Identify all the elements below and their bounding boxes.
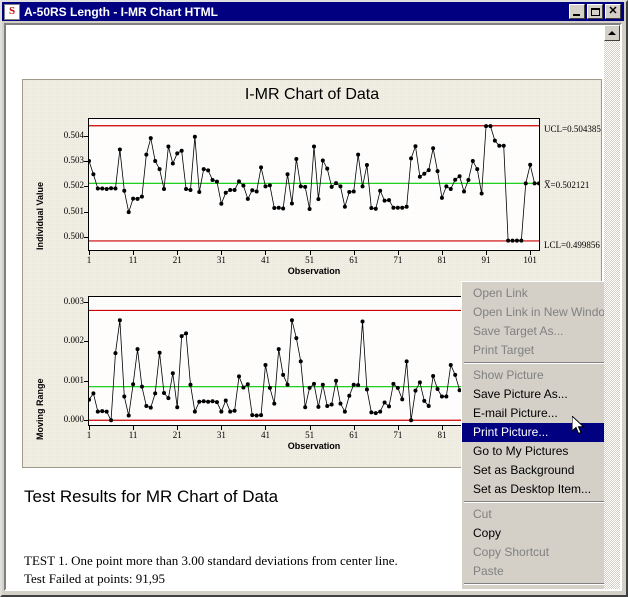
i-chart-data-point [109, 186, 113, 190]
mr-chart-data-point [175, 405, 179, 409]
i-chart-data-point [533, 181, 537, 185]
i-chart-data-point [286, 172, 290, 176]
menu-item-paste: Paste [462, 562, 604, 581]
mr-chart-data-point [171, 371, 175, 375]
menu-separator [464, 501, 604, 503]
mr-chart-data-point [91, 391, 95, 395]
mr-chart-data-point [89, 398, 91, 402]
menu-separator [464, 583, 604, 585]
mr-chart-data-point [96, 410, 100, 414]
i-chart-data-point [378, 189, 382, 193]
i-chart-data-point [206, 168, 210, 172]
mr-chart-data-point [294, 336, 298, 340]
i-chart-data-point [471, 159, 475, 163]
mr-chart-data-point [374, 411, 378, 415]
i-chart-data-point [365, 163, 369, 167]
mr-chart-x-tick-label: 21 [162, 430, 192, 440]
i-chart-x-tick-label: 51 [295, 255, 325, 265]
scrollbar-track[interactable] [604, 41, 620, 589]
mr-chart-data-point [352, 383, 356, 387]
browser-client-area: I-MR Chart of Data Individual Value 0.50… [4, 23, 622, 591]
mr-chart-data-point [338, 402, 342, 406]
mr-chart-x-tick-mark [310, 426, 311, 430]
i-chart-data-point [241, 184, 245, 188]
i-chart-data-point [462, 190, 466, 194]
i-chart-data-point [449, 187, 453, 191]
mr-chart-data-point [400, 397, 404, 401]
mr-chart-data-point [387, 404, 391, 408]
i-chart-data-point [237, 179, 241, 183]
mr-chart-data-point [418, 380, 422, 384]
i-chart-data-point [259, 165, 263, 169]
i-chart-data-point [422, 172, 426, 176]
i-chart-data-point [149, 136, 153, 140]
mr-chart-x-tick-mark [442, 426, 443, 430]
mr-chart-data-point [180, 334, 184, 338]
mr-chart-data-point [122, 395, 126, 399]
i-chart-data-point [444, 184, 448, 188]
mr-chart-data-point [290, 318, 294, 322]
i-chart-data-point [184, 187, 188, 191]
i-chart-data-point [475, 167, 479, 171]
i-chart-data-point [100, 186, 104, 190]
menu-item-add-to-favorites[interactable]: Add to Favorites... [462, 587, 604, 589]
i-chart-x-tick-mark [133, 251, 134, 255]
menu-item-copy[interactable]: Copy [462, 524, 604, 543]
mr-chart-data-point [105, 410, 109, 414]
i-chart-y-tick-label: 0.504 [26, 130, 84, 140]
mr-chart-data-point [330, 402, 334, 406]
i-chart-data-point [113, 186, 117, 190]
i-chart-x-axis-label: Observation [88, 266, 540, 276]
mr-chart-data-point [215, 400, 219, 404]
scroll-up-button[interactable] [604, 25, 620, 41]
i-chart-data-point [193, 135, 197, 139]
i-chart-x-tick-label: 11 [118, 255, 148, 265]
i-chart-data-point [140, 195, 144, 199]
i-chart-data-point [334, 181, 338, 185]
i-chart-data-point [405, 205, 409, 209]
i-chart-data-point [175, 151, 179, 155]
i-chart-data-point [497, 144, 501, 148]
mr-chart-data-point [100, 409, 104, 413]
i-chart-data-point [537, 181, 539, 185]
i-chart-data-point [519, 239, 523, 243]
mr-chart-data-point [308, 386, 312, 390]
mr-chart-data-point [219, 410, 223, 414]
i-chart-data-point [224, 191, 228, 195]
mr-chart-x-tick-label: 31 [206, 430, 236, 440]
i-chart-data-point [453, 178, 457, 182]
i-chart-center-label: X̅=0.502121 [544, 180, 589, 190]
menu-item-go-to-my-pictures[interactable]: Go to My Pictures [462, 442, 604, 461]
application-window: S A-50RS Length - I-MR Chart HTML ✕ I-MR… [0, 0, 628, 597]
mr-chart-data-point [228, 410, 232, 414]
i-chart-data-point [180, 149, 184, 153]
mr-chart-data-point [184, 331, 188, 335]
mr-chart-y-tick-mark [84, 381, 88, 382]
i-chart-data-point [215, 180, 219, 184]
i-chart-data-point [528, 163, 532, 167]
i-chart-data-point [312, 144, 316, 148]
i-chart-data-point [352, 190, 356, 194]
menu-item-copy-shortcut: Copy Shortcut [462, 543, 604, 562]
results-line-1: TEST 1. One point more than 3.00 standar… [24, 553, 398, 569]
i-chart-data-point [524, 181, 528, 185]
i-chart-data-point [391, 206, 395, 210]
menu-item-set-as-background[interactable]: Set as Background [462, 461, 604, 480]
mr-chart-data-point [237, 374, 241, 378]
chart-title: I-MR Chart of Data [23, 86, 601, 104]
minimize-button[interactable] [569, 4, 585, 19]
i-chart-y-tick-label: 0.503 [26, 155, 84, 165]
mr-chart-data-point [334, 379, 338, 383]
mr-chart-data-point [321, 383, 325, 387]
mr-chart-data-point [383, 400, 387, 404]
i-chart-data-point [303, 185, 307, 189]
mr-chart-x-tick-label: 71 [383, 430, 413, 440]
i-chart-data-point [515, 239, 519, 243]
close-icon: ✕ [608, 6, 617, 17]
mr-chart-x-tick-label: 1 [74, 430, 104, 440]
i-chart-x-tick-label: 21 [162, 255, 192, 265]
i-chart-data-point [383, 199, 387, 203]
i-chart-data-point [250, 188, 254, 192]
i-chart-data-point [338, 184, 342, 188]
i-chart-y-tick-label: 0.501 [26, 206, 84, 216]
i-chart-data-point [356, 153, 360, 157]
i-chart-x-tick-mark [221, 251, 222, 255]
i-chart-x-tick-label: 31 [206, 255, 236, 265]
results-heading: Test Results for MR Chart of Data [24, 487, 278, 507]
i-chart-data-point [211, 178, 215, 182]
mr-chart-x-tick-label: 81 [427, 430, 457, 440]
menu-item-email-picture[interactable]: E-mail Picture... [462, 404, 604, 423]
i-chart-data-point [290, 201, 294, 205]
mr-chart-data-point [241, 385, 245, 389]
mr-chart-y-tick-mark [84, 420, 88, 421]
mr-chart-data-point [422, 399, 426, 403]
i-chart-data-point [188, 188, 192, 192]
mr-chart-data-point [299, 359, 303, 363]
mr-chart-data-point [312, 382, 316, 386]
i-chart-data-point [321, 158, 325, 162]
i-chart-data-point [294, 157, 298, 161]
i-chart-data-point [396, 206, 400, 210]
i-chart-x-tick-mark [398, 251, 399, 255]
i-chart-data-point [493, 139, 497, 143]
i-chart-data-point [162, 187, 166, 191]
i-chart-svg [89, 119, 539, 250]
i-chart-data-point [440, 196, 444, 200]
i-chart-x-tick-mark [265, 251, 266, 255]
i-chart-data-point [400, 206, 404, 210]
mr-chart-data-point [391, 382, 395, 386]
i-chart-data-point [118, 148, 122, 152]
i-chart-x-tick-label: 1 [74, 255, 104, 265]
mr-chart-data-point [188, 383, 192, 387]
i-chart-x-tick-mark [530, 251, 531, 255]
i-chart-data-point [131, 197, 135, 201]
results-line-2: Test Failed at points: 91,95 [24, 571, 165, 587]
i-chart-x-tick-mark [354, 251, 355, 255]
i-chart-data-point [484, 124, 488, 128]
mr-chart-data-point [166, 396, 170, 400]
mr-chart-data-point [343, 410, 347, 414]
menu-item-print-picture[interactable]: Print Picture... [462, 423, 604, 442]
maximize-button[interactable] [587, 4, 603, 19]
i-chart-data-point [122, 189, 126, 193]
i-chart-data-point [255, 190, 259, 194]
i-chart-x-tick-label: 71 [383, 255, 413, 265]
i-chart-data-point [246, 197, 250, 201]
mr-chart-data-point [162, 391, 166, 395]
menu-item-print-target: Print Target [462, 341, 604, 360]
mr-chart-data-point [277, 347, 281, 351]
mr-chart-data-point [197, 400, 201, 404]
mr-chart-data-point [259, 413, 263, 417]
mr-chart-y-tick-mark [84, 341, 88, 342]
i-chart-data-point [158, 167, 162, 171]
mr-chart-x-tick-label: 11 [118, 430, 148, 440]
mr-chart-y-tick-label: 0.003 [26, 296, 84, 306]
i-chart-data-point [502, 144, 506, 148]
i-chart-data-point [263, 184, 267, 188]
mr-chart-data-point [303, 405, 307, 409]
mr-chart-data-point [365, 387, 369, 391]
i-chart-data-point [506, 239, 510, 243]
mr-chart-x-tick-mark [133, 426, 134, 430]
menu-item-open-link-new-window: Open Link in New Window [462, 303, 604, 322]
mr-chart-x-tick-label: 41 [250, 430, 280, 440]
mr-chart-data-point [140, 385, 144, 389]
i-chart-data-point [202, 167, 206, 171]
mr-chart-data-point [409, 418, 413, 422]
close-button[interactable]: ✕ [605, 4, 621, 19]
mr-chart-data-point [369, 410, 373, 414]
context-menu[interactable]: Open LinkOpen Link in New WindowSave Tar… [461, 281, 604, 589]
i-chart-y-tick-mark [84, 237, 88, 238]
i-chart-data-point [374, 207, 378, 211]
mr-chart-x-tick-mark [221, 426, 222, 430]
mr-chart-data-point [149, 406, 153, 410]
window-title: A-50RS Length - I-MR Chart HTML [24, 5, 218, 19]
mr-chart-data-point [440, 395, 444, 399]
mr-chart-x-tick-mark [177, 426, 178, 430]
i-chart-y-tick-label: 0.500 [26, 231, 84, 241]
mr-chart-data-point [281, 373, 285, 377]
i-chart-data-point [316, 197, 320, 201]
i-chart-data-point [127, 210, 131, 214]
mr-chart-data-point [118, 318, 122, 322]
mr-chart-x-tick-label: 51 [295, 430, 325, 440]
i-chart-data-point [96, 186, 100, 190]
i-chart-data-point [268, 183, 272, 187]
mr-chart-y-tick-mark [84, 302, 88, 303]
i-chart-data-point [343, 205, 347, 209]
i-chart-x-tick-label: 101 [515, 255, 545, 265]
mr-chart-data-point [356, 383, 360, 387]
minitab-icon: S [4, 4, 20, 20]
mr-chart-data-point [250, 413, 254, 417]
mr-chart-data-point [158, 351, 162, 355]
mr-chart-data-point [396, 386, 400, 390]
mr-chart-data-point [211, 399, 215, 403]
i-chart-x-tick-label: 91 [471, 255, 501, 265]
mr-chart-data-point [286, 383, 290, 387]
menu-separator [464, 362, 604, 364]
mr-chart-data-point [206, 400, 210, 404]
i-chart-data-point [488, 124, 492, 128]
i-chart-y-tick-mark [84, 212, 88, 213]
i-chart-data-point [136, 197, 140, 201]
mr-chart-data-point [224, 399, 228, 403]
i-chart-x-tick-label: 41 [250, 255, 280, 265]
menu-item-set-as-desktop-item[interactable]: Set as Desktop Item... [462, 480, 604, 499]
i-chart-data-point [308, 207, 312, 211]
i-chart-data-point [418, 175, 422, 179]
mr-chart-data-point [325, 404, 329, 408]
maximize-icon [591, 8, 600, 16]
window-controls: ✕ [569, 4, 622, 19]
menu-item-save-target-as: Save Target As... [462, 322, 604, 341]
mr-chart-x-tick-mark [265, 426, 266, 430]
mr-chart-data-point [453, 373, 457, 377]
mr-chart-data-point [153, 391, 157, 395]
i-chart-data-point [281, 207, 285, 211]
minitab-icon-glyph: S [9, 6, 15, 17]
chevron-up-icon [608, 31, 616, 35]
i-chart-data-point [219, 202, 223, 206]
i-chart-data-point [347, 190, 351, 194]
mr-chart-data-point [255, 414, 259, 418]
i-chart-x-tick-mark [89, 251, 90, 255]
i-chart-data-point [299, 184, 303, 188]
i-chart-data-point [233, 188, 237, 192]
i-chart-data-point [166, 144, 170, 148]
mr-chart-data-point [109, 418, 113, 422]
mr-chart-data-point [268, 386, 272, 390]
menu-item-cut: Cut [462, 505, 604, 524]
menu-item-save-picture-as[interactable]: Save Picture As... [462, 385, 604, 404]
mr-chart-data-point [233, 409, 237, 413]
mr-chart-data-point [316, 405, 320, 409]
i-chart-x-tick-mark [177, 251, 178, 255]
i-chart-data-point [325, 167, 329, 171]
vertical-scrollbar[interactable] [604, 25, 620, 589]
mr-chart-x-tick-mark [398, 426, 399, 430]
mr-chart-data-point [449, 363, 453, 367]
i-chart-ucl-label: UCL=0.504385 [544, 124, 601, 134]
i-chart-data-point [228, 188, 232, 192]
i-chart-data-point [89, 159, 91, 163]
mr-chart-data-point [131, 382, 135, 386]
mr-chart-data-point [113, 351, 117, 355]
i-chart-data-point [413, 144, 417, 148]
i-chart-data-point [436, 169, 440, 173]
mr-chart-data-point [427, 404, 431, 408]
mr-chart-data-point [136, 347, 140, 351]
i-chart-data-point [369, 206, 373, 210]
i-chart-data-point [458, 174, 462, 178]
i-chart-data-point [511, 239, 515, 243]
mr-chart-data-point [193, 410, 197, 414]
mr-chart-data-point [413, 389, 417, 393]
mr-chart-data-point [246, 382, 250, 386]
i-chart-data-point [272, 206, 276, 210]
i-chart-y-tick-label: 0.502 [26, 180, 84, 190]
i-chart-data-point [277, 206, 281, 210]
i-chart-data-point [153, 159, 157, 163]
i-chart-data-point [466, 178, 470, 182]
i-chart-y-tick-mark [84, 186, 88, 187]
i-chart-x-tick-label: 81 [427, 255, 457, 265]
i-chart-y-tick-mark [84, 136, 88, 137]
mr-chart-x-tick-mark [354, 426, 355, 430]
i-chart-data-point [144, 153, 148, 157]
minimize-icon [573, 14, 580, 16]
mr-chart-x-tick-mark [89, 426, 90, 430]
i-chart-x-tick-label: 61 [339, 255, 369, 265]
mr-chart-y-tick-label: 0.002 [26, 335, 84, 345]
mr-chart-x-tick-label: 61 [339, 430, 369, 440]
mr-chart-data-point [202, 399, 206, 403]
mr-chart-data-point [272, 402, 276, 406]
i-chart-y-tick-mark [84, 161, 88, 162]
mr-chart-y-tick-label: 0.001 [26, 375, 84, 385]
mr-chart-data-point [436, 387, 440, 391]
mr-chart-data-point [263, 363, 267, 367]
i-chart-data-point [171, 162, 175, 166]
document-body: I-MR Chart of Data Individual Value 0.50… [6, 25, 604, 589]
menu-item-open-link: Open Link [462, 284, 604, 303]
i-chart-lcl-label: LCL=0.499856 [544, 240, 600, 250]
i-chart-data-point [409, 156, 413, 160]
mr-chart-data-point [127, 414, 131, 418]
mr-chart-data-point [431, 374, 435, 378]
i-chart-data-point [387, 198, 391, 202]
title-bar[interactable]: S A-50RS Length - I-MR Chart HTML ✕ [2, 2, 624, 21]
mr-chart-data-point [378, 410, 382, 414]
mr-chart-data-point [361, 319, 365, 323]
menu-item-show-picture: Show Picture [462, 366, 604, 385]
i-chart-x-tick-mark [310, 251, 311, 255]
mr-chart-data-point [347, 394, 351, 398]
i-chart-data-point [361, 184, 365, 188]
mr-chart-data-point [405, 359, 409, 363]
i-chart-data-point [105, 187, 109, 191]
i-chart-plot-area [88, 118, 540, 251]
i-chart-data-point [480, 192, 484, 196]
i-chart-x-tick-mark [442, 251, 443, 255]
i-chart-x-tick-mark [486, 251, 487, 255]
i-chart-data-point [330, 185, 334, 189]
mr-chart-y-axis-label: Moving Range [35, 378, 45, 440]
i-chart-data-point [427, 168, 431, 172]
i-chart-data-point [431, 146, 435, 150]
i-chart-data-point [197, 190, 201, 194]
mr-chart-y-tick-label: 0.000 [26, 414, 84, 424]
mr-chart-data-point [144, 404, 148, 408]
i-chart-data-point [91, 172, 95, 176]
mr-chart-data-point [444, 395, 448, 399]
